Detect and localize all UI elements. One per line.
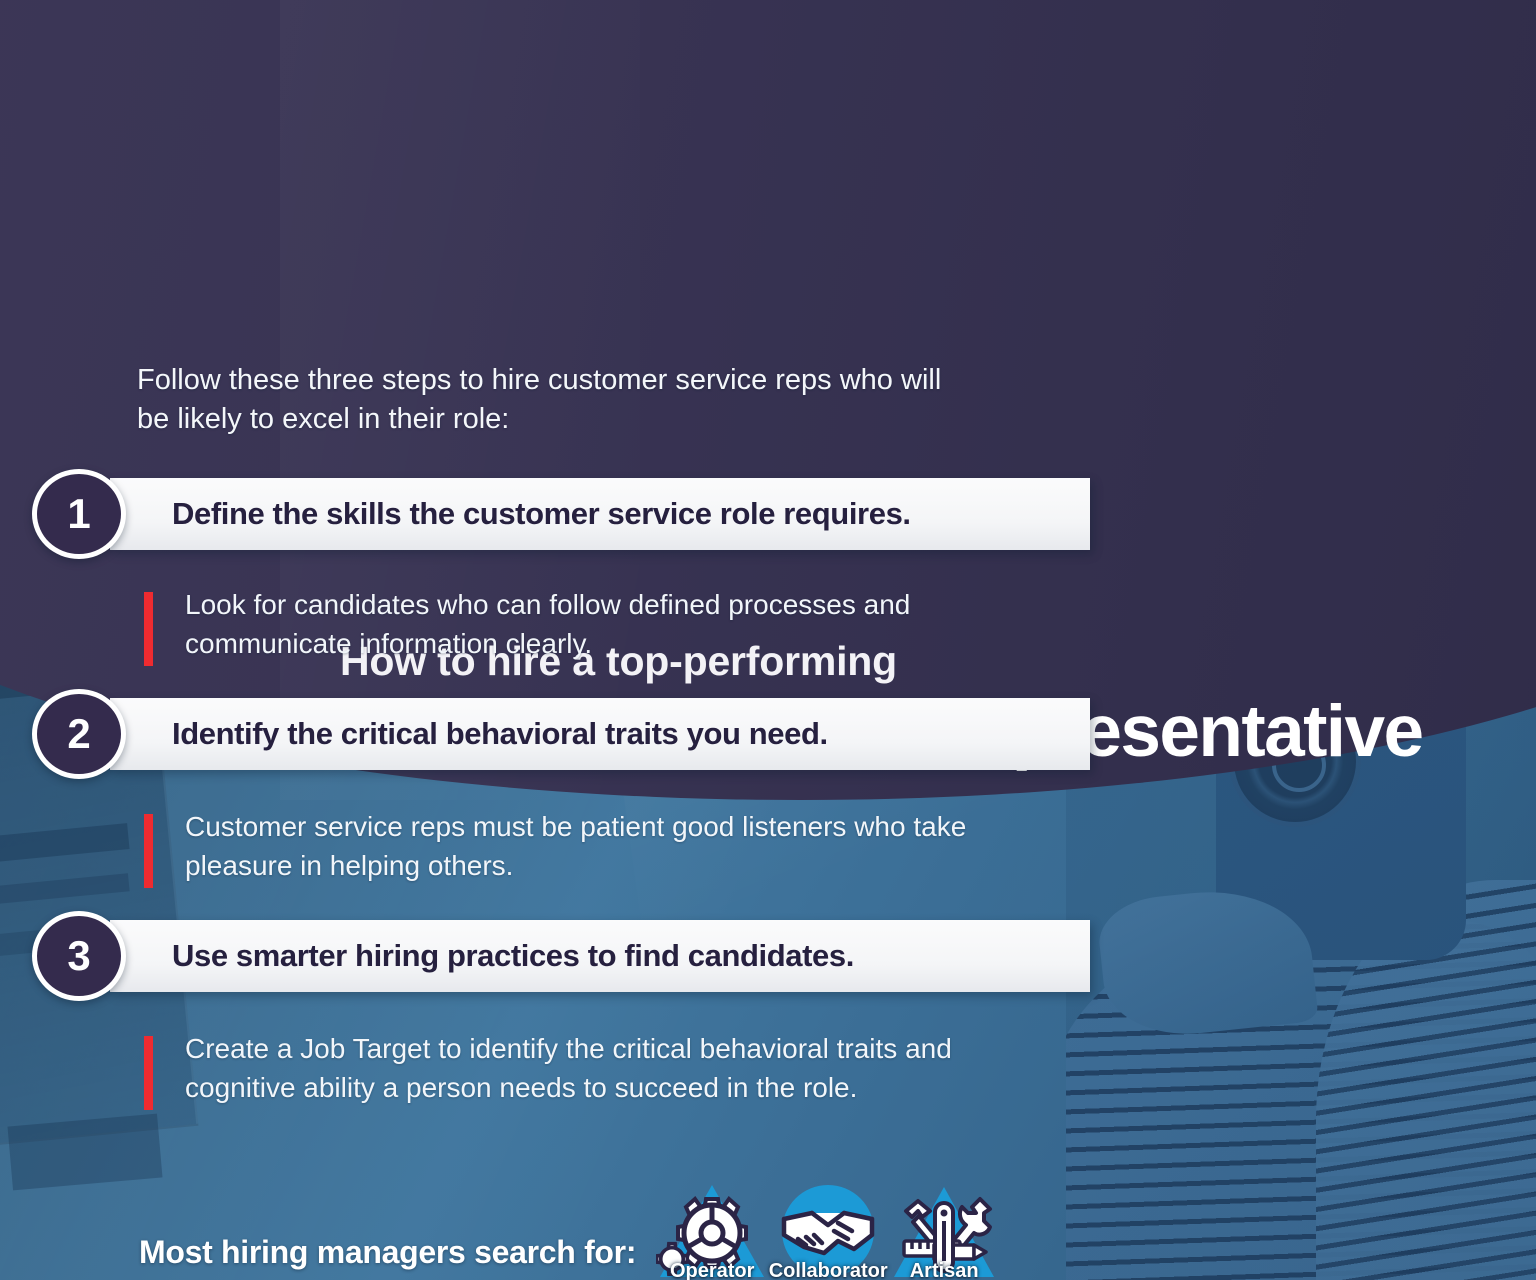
step-detail-1: Look for candidates who can follow defin… xyxy=(144,586,1024,663)
badge-operator[interactable]: Operator xyxy=(654,1181,770,1280)
step-detail-text-3: Create a Job Target to identify the crit… xyxy=(185,1030,1024,1107)
step-number-badge-1: 1 xyxy=(32,469,126,559)
step-detail-2: Customer service reps must be patient go… xyxy=(144,808,1024,885)
footer-row: Most hiring managers search for: xyxy=(139,1181,1002,1280)
step-row-1: Define the skills the customer service r… xyxy=(32,478,1062,554)
step-row-3: Use smarter hiring practices to find can… xyxy=(32,920,1062,996)
intro-text: Follow these three steps to hire custome… xyxy=(137,361,967,440)
step-heading-2: Identify the critical behavioral traits … xyxy=(172,716,828,752)
red-accent-bar-2 xyxy=(144,814,153,888)
footer-label: Most hiring managers search for: xyxy=(139,1234,636,1280)
badge-label-collaborator: Collaborator xyxy=(769,1260,888,1280)
content-area: Follow these three steps to hire custome… xyxy=(0,0,1536,1280)
step-detail-text-2: Customer service reps must be patient go… xyxy=(185,808,1024,885)
step-heading-bar-2: Identify the critical behavioral traits … xyxy=(110,698,1090,770)
step-heading-3: Use smarter hiring practices to find can… xyxy=(172,938,854,974)
step-heading-bar-1: Define the skills the customer service r… xyxy=(110,478,1090,550)
step-detail-3: Create a Job Target to identify the crit… xyxy=(144,1030,1024,1107)
badge-group: Operator xyxy=(654,1181,1002,1280)
red-accent-bar-3 xyxy=(144,1036,153,1110)
step-detail-text-1: Look for candidates who can follow defin… xyxy=(185,586,1024,663)
step-number-badge-2: 2 xyxy=(32,689,126,779)
step-heading-1: Define the skills the customer service r… xyxy=(172,496,911,532)
badge-collaborator[interactable]: Collaborator xyxy=(770,1181,886,1280)
badge-label-operator: Operator xyxy=(670,1260,754,1280)
badge-artisan[interactable]: Artisan xyxy=(886,1181,1002,1280)
step-heading-bar-3: Use smarter hiring practices to find can… xyxy=(110,920,1090,992)
badge-label-artisan: Artisan xyxy=(910,1260,979,1280)
red-accent-bar-1 xyxy=(144,592,153,666)
infographic-root: How to hire a top-performing Customer se… xyxy=(0,0,1536,1280)
step-number-badge-3: 3 xyxy=(32,911,126,1001)
step-row-2: Identify the critical behavioral traits … xyxy=(32,698,1062,774)
